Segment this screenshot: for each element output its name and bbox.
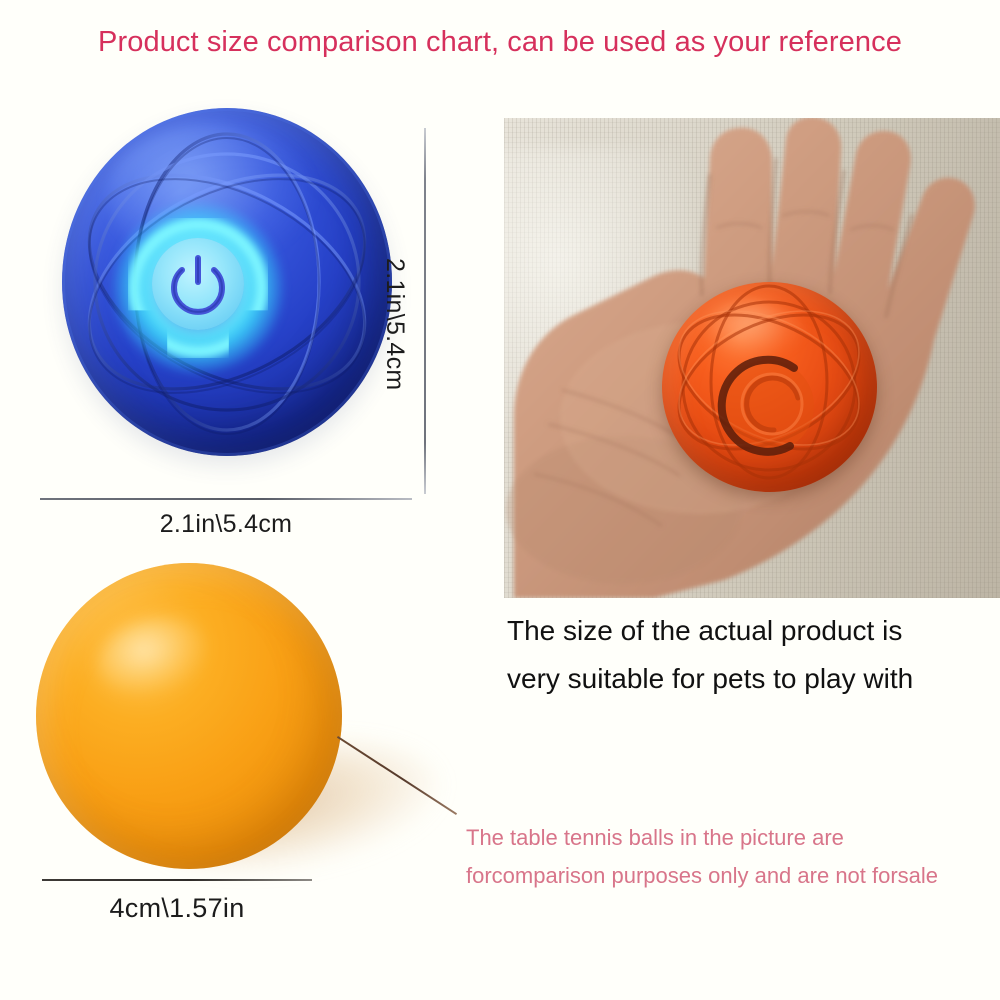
table-tennis-ball — [36, 563, 342, 869]
width-dimension-label: 2.1in\5.4cm — [40, 510, 412, 539]
product-size-caption-line1: The size of the actual product is — [507, 607, 993, 655]
disclaimer-line1: The table tennis balls in the picture ar… — [466, 819, 994, 857]
infographic-canvas: Product size comparison chart, can be us… — [0, 0, 1000, 1000]
product-size-caption-line2: very suitable for pets to play with — [507, 655, 993, 703]
table-tennis-ball-highlight — [89, 607, 216, 706]
page-title: Product size comparison chart, can be us… — [0, 26, 1000, 59]
width-dimension-line — [40, 498, 412, 500]
orange-smart-ball-in-hand — [662, 282, 877, 492]
blue-ball-body — [62, 108, 392, 456]
table-tennis-width-label: 4cm\1.57in — [42, 893, 312, 924]
height-dimension-label: 2.1in\5.4cm — [380, 258, 409, 391]
orange-atom-groove-pattern-icon — [662, 282, 877, 492]
hand-holding-ball-photo — [504, 118, 1000, 598]
blue-smart-ball — [62, 108, 392, 458]
orange-power-button-icon — [722, 360, 814, 452]
disclaimer-caption: The table tennis balls in the picture ar… — [466, 819, 994, 895]
disclaimer-line2: forcomparison purposes only and are not … — [466, 857, 994, 895]
height-dimension-line — [424, 128, 426, 494]
table-tennis-width-line — [42, 879, 312, 881]
product-size-caption: The size of the actual product is very s… — [507, 607, 993, 703]
blue-ball-rim — [62, 108, 392, 456]
